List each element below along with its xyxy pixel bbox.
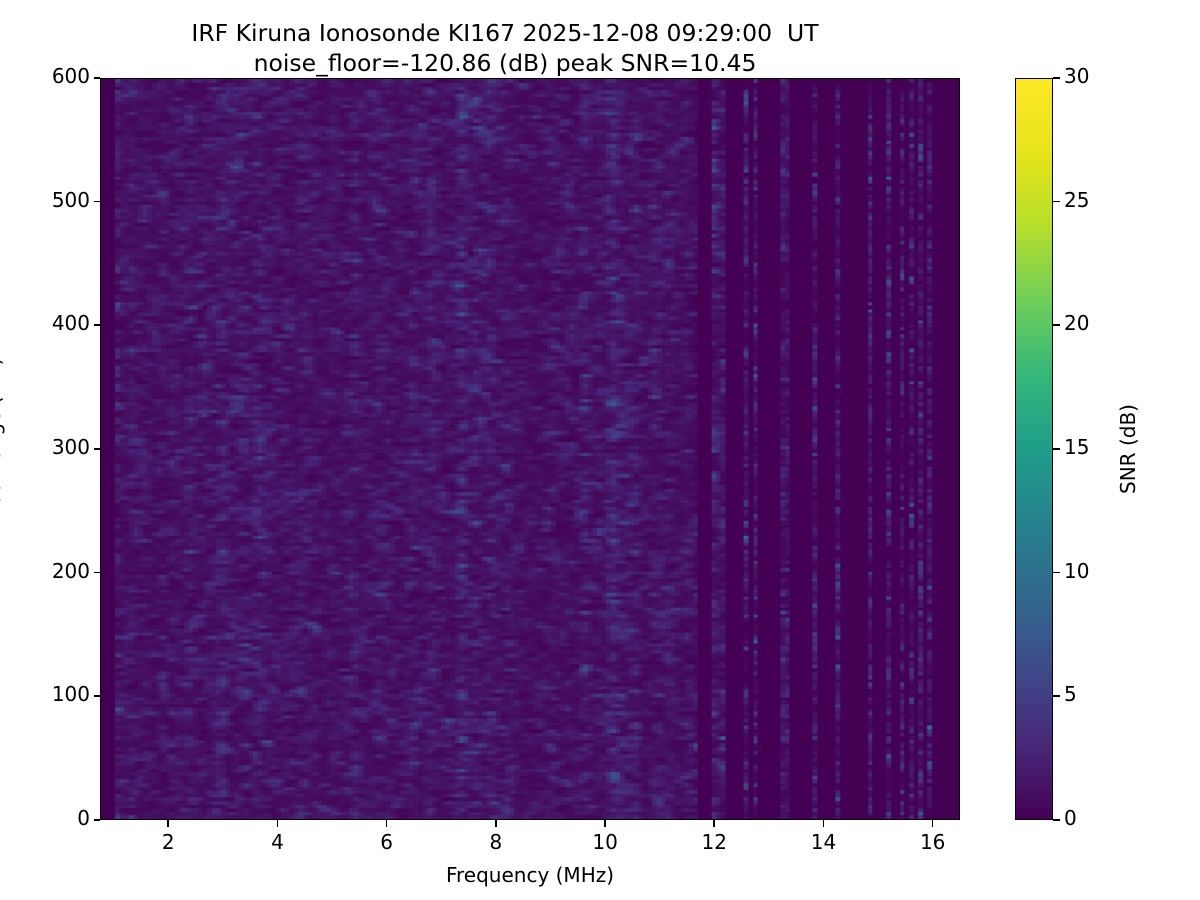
colorbar-tick-mark: [1053, 324, 1060, 326]
x-tick-label: 2: [128, 830, 208, 854]
colorbar-tick-label: 0: [1064, 807, 1077, 829]
heatmap-plot-area: [100, 78, 960, 820]
x-tick-mark: [823, 820, 825, 827]
colorbar-tick-mark: [1053, 695, 1060, 697]
y-tick-label: 200: [52, 560, 90, 582]
y-tick-mark: [94, 324, 101, 326]
colorbar-tick-label: 20: [1064, 312, 1089, 334]
x-tick-label: 12: [674, 830, 754, 854]
x-tick-mark: [495, 820, 497, 827]
colorbar-tick-label: 10: [1064, 560, 1089, 582]
y-tick-label: 400: [52, 312, 90, 334]
x-tick-label: 16: [893, 830, 973, 854]
colorbar-tick-mark: [1053, 201, 1060, 203]
colorbar-tick-mark: [1053, 448, 1060, 450]
y-tick-label: 500: [52, 189, 90, 211]
x-axis: Frequency (MHz) 246810121416: [0, 820, 1200, 900]
colorbar-axis: 051015202530: [1053, 78, 1173, 820]
ionogram-heatmap: [101, 79, 959, 819]
x-tick-label: 4: [237, 830, 317, 854]
colorbar: [1015, 78, 1053, 820]
y-tick-mark: [94, 201, 101, 203]
colorbar-gradient: [1016, 79, 1052, 819]
x-tick-label: 6: [347, 830, 427, 854]
y-tick-mark: [94, 77, 101, 79]
colorbar-tick-label: 30: [1064, 65, 1089, 87]
y-axis: Virtual range (km) 0100200300400500600: [0, 0, 100, 900]
x-tick-label: 14: [783, 830, 863, 854]
colorbar-tick-label: 5: [1064, 683, 1077, 705]
y-tick-mark: [94, 572, 101, 574]
colorbar-tick-mark: [1053, 819, 1060, 821]
colorbar-tick-label: 15: [1064, 436, 1089, 458]
y-tick-label: 600: [52, 65, 90, 87]
y-tick-label: 300: [52, 436, 90, 458]
colorbar-tick-label: 25: [1064, 189, 1089, 211]
x-axis-label: Frequency (MHz): [100, 863, 960, 887]
y-axis-label: Virtual range (km): [0, 299, 5, 599]
x-tick-mark: [713, 820, 715, 827]
y-tick-mark: [94, 695, 101, 697]
chart-title-line-2: noise_floor=-120.86 (dB) peak SNR=10.45: [0, 48, 1010, 78]
x-tick-label: 10: [565, 830, 645, 854]
colorbar-tick-mark: [1053, 77, 1060, 79]
chart-title-line-1: IRF Kiruna Ionosonde KI167 2025-12-08 09…: [0, 18, 1010, 48]
colorbar-label: SNR (dB): [1116, 299, 1140, 599]
x-tick-mark: [604, 820, 606, 827]
x-tick-mark: [932, 820, 934, 827]
chart-title: IRF Kiruna Ionosonde KI167 2025-12-08 09…: [0, 18, 1010, 78]
y-tick-label: 100: [52, 683, 90, 705]
x-tick-mark: [277, 820, 279, 827]
x-tick-mark: [386, 820, 388, 827]
ionogram-figure: IRF Kiruna Ionosonde KI167 2025-12-08 09…: [0, 0, 1200, 900]
x-tick-label: 8: [456, 830, 536, 854]
x-tick-mark: [167, 820, 169, 827]
colorbar-tick-mark: [1053, 572, 1060, 574]
y-tick-mark: [94, 448, 101, 450]
